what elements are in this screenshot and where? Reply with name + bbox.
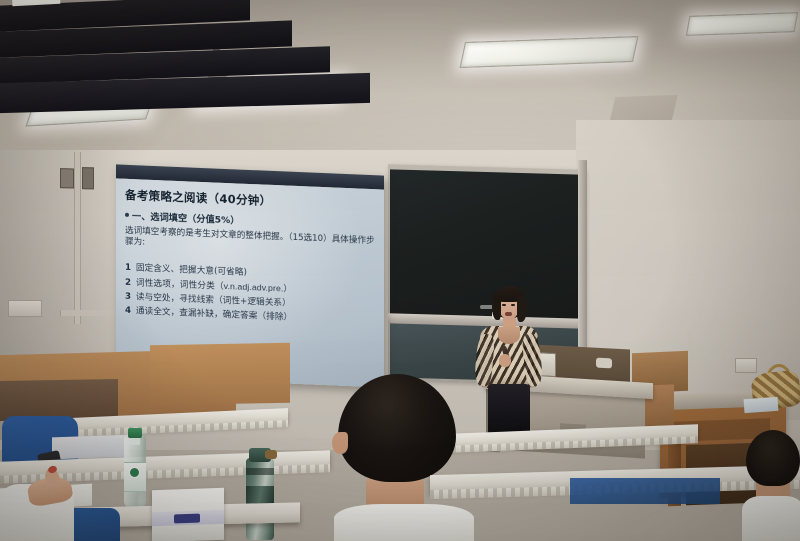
slide-step-list: 1 固定含义、把握大意(可省略) 2 词性选项，词性分类（v.n.adj.adv… (125, 260, 377, 328)
student-right (746, 430, 800, 541)
podium-object (596, 358, 612, 369)
bottle-logo-icon (130, 468, 139, 477)
list-item-number: 3 (125, 292, 131, 302)
ceiling-light-icon (686, 12, 798, 36)
lecturer (472, 286, 546, 434)
student-hair (746, 430, 800, 486)
notebook[interactable] (52, 435, 130, 460)
chair-blue[interactable] (570, 478, 720, 504)
tissue-box-logo-icon (174, 514, 200, 524)
lecturer-eye (511, 304, 515, 306)
thermos-handle[interactable] (265, 450, 277, 459)
bottle-cap[interactable] (128, 428, 142, 438)
light-switch-plate[interactable] (8, 300, 42, 317)
lecturer-mouth (505, 312, 512, 316)
list-item-number: 4 (125, 306, 131, 316)
student-hair (338, 374, 456, 482)
list-item-number: 1 (125, 262, 131, 272)
wall-conduit (688, 332, 693, 388)
student-left-hand (28, 462, 70, 502)
lecturer-hair-side (517, 296, 527, 322)
water-bottle[interactable] (124, 418, 146, 508)
tissue-box[interactable] (152, 488, 224, 541)
bottle-label (124, 462, 146, 492)
thermos-band (246, 468, 274, 475)
slide-subtitle-text: 一、选词填空（分值5%） (132, 208, 239, 227)
back-row-chair (0, 379, 118, 421)
classroom-photo: 备考策略之阅读（40分钟） 一、选词填空（分值5%） 选词填空考察的是考生对文章… (0, 0, 800, 541)
thermos-flask[interactable] (246, 440, 274, 540)
wall-outlet[interactable] (735, 358, 757, 373)
student-center (330, 374, 466, 541)
student-shirt (334, 504, 474, 541)
screen-bracket (82, 167, 94, 189)
student-ear (332, 432, 348, 454)
lecturer-hand (499, 354, 511, 367)
back-row-bench (150, 343, 290, 405)
lecturer-eye (502, 304, 506, 306)
lecturer-hair-side (492, 296, 501, 320)
lecturer-skirt (488, 384, 530, 434)
student-shirt (742, 496, 800, 541)
bottle-neck (130, 437, 140, 445)
papers-on-desk[interactable] (744, 397, 779, 413)
slide-content: 备考策略之阅读（40分钟） 一、选词填空（分值5%） 选词填空考察的是考生对文章… (125, 187, 377, 329)
wall-conduit (74, 152, 81, 324)
list-item-number: 2 (125, 278, 131, 288)
bullet-icon (125, 213, 129, 217)
lecturer-collar (498, 327, 520, 344)
screen-bracket (60, 168, 74, 188)
